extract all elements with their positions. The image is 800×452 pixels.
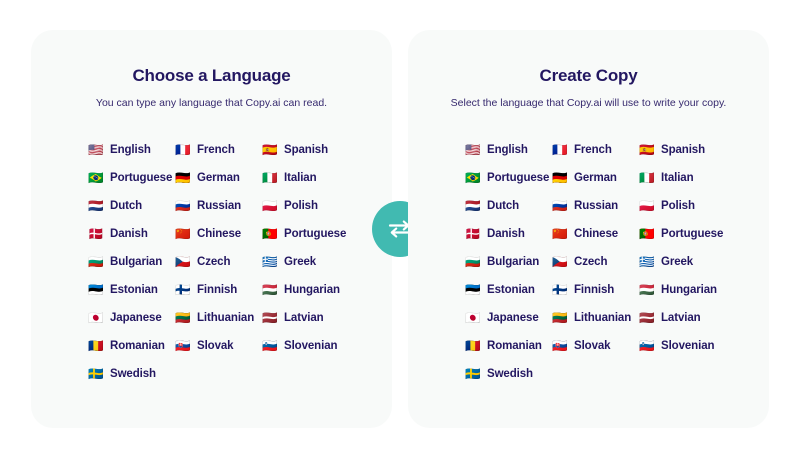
language-option-slovak-22[interactable]: 🇸🇰Slovak (552, 332, 639, 360)
language-option-label: Hungarian (284, 284, 340, 296)
language-option-swedish-24[interactable]: 🇸🇪Swedish (465, 360, 552, 388)
flag-brazil-icon: 🇧🇷 (465, 172, 481, 185)
language-option-polish-8[interactable]: 🇵🇱Polish (639, 192, 739, 220)
language-option-portuguese-11[interactable]: 🇵🇹Portuguese (639, 220, 739, 248)
language-option-label: Czech (574, 256, 607, 268)
flag-estonia-icon: 🇪🇪 (88, 284, 104, 297)
language-option-label: Lithuanian (197, 312, 254, 324)
language-option-label: Estonian (110, 284, 158, 296)
language-option-bulgarian-12[interactable]: 🇧🇬Bulgarian (465, 248, 552, 276)
language-option-label: Estonian (487, 284, 535, 296)
language-option-estonian-15[interactable]: 🇪🇪Estonian (465, 276, 552, 304)
flag-brazil-icon: 🇧🇷 (88, 172, 104, 185)
language-option-french-1[interactable]: 🇫🇷French (552, 136, 639, 164)
flag-latvia-icon: 🇱🇻 (262, 312, 278, 325)
language-option-portuguese-3[interactable]: 🇧🇷Portuguese (465, 164, 552, 192)
language-option-french-1[interactable]: 🇫🇷French (175, 136, 262, 164)
flag-slovenia-icon: 🇸🇮 (262, 340, 278, 353)
language-option-russian-7[interactable]: 🇷🇺Russian (552, 192, 639, 220)
flag-hungary-icon: 🇭🇺 (262, 284, 278, 297)
language-option-bulgarian-12[interactable]: 🇧🇬Bulgarian (88, 248, 175, 276)
language-option-italian-5[interactable]: 🇮🇹Italian (262, 164, 362, 192)
language-option-label: Italian (284, 172, 317, 184)
language-option-czech-13[interactable]: 🇨🇿Czech (175, 248, 262, 276)
language-option-danish-9[interactable]: 🇩🇰Danish (465, 220, 552, 248)
flag-netherlands-icon: 🇳🇱 (465, 200, 481, 213)
language-option-german-4[interactable]: 🇩🇪German (175, 164, 262, 192)
language-option-label: Lithuanian (574, 312, 631, 324)
flag-romania-icon: 🇷🇴 (465, 340, 481, 353)
language-option-greek-14[interactable]: 🇬🇷Greek (639, 248, 739, 276)
language-option-label: Italian (661, 172, 694, 184)
language-option-spanish-2[interactable]: 🇪🇸Spanish (639, 136, 739, 164)
flag-spain-icon: 🇪🇸 (262, 144, 278, 157)
language-option-label: Dutch (487, 200, 519, 212)
flag-greece-icon: 🇬🇷 (639, 256, 655, 269)
flag-portugal-icon: 🇵🇹 (639, 228, 655, 241)
language-option-label: Slovenian (284, 340, 337, 352)
language-option-label: Finnish (574, 284, 614, 296)
flag-japan-icon: 🇯🇵 (465, 312, 481, 325)
flag-japan-icon: 🇯🇵 (88, 312, 104, 325)
page-title: Choose a Language (31, 30, 392, 86)
flag-poland-icon: 🇵🇱 (262, 200, 278, 213)
language-option-label: Chinese (574, 228, 618, 240)
flag-germany-icon: 🇩🇪 (552, 172, 568, 185)
language-option-label: Bulgarian (110, 256, 162, 268)
language-option-lithuanian-19[interactable]: 🇱🇹Lithuanian (552, 304, 639, 332)
flag-russia-icon: 🇷🇺 (175, 200, 191, 213)
language-option-dutch-6[interactable]: 🇳🇱Dutch (465, 192, 552, 220)
flag-spain-icon: 🇪🇸 (639, 144, 655, 157)
language-option-label: English (487, 144, 528, 156)
language-option-polish-8[interactable]: 🇵🇱Polish (262, 192, 362, 220)
language-option-label: French (197, 144, 235, 156)
panel-subtitle: Select the language that Copy.ai will us… (408, 86, 769, 109)
language-option-label: Japanese (487, 312, 539, 324)
flag-lithuania-icon: 🇱🇹 (552, 312, 568, 325)
language-option-russian-7[interactable]: 🇷🇺Russian (175, 192, 262, 220)
language-option-chinese-10[interactable]: 🇨🇳Chinese (552, 220, 639, 248)
flag-slovakia-icon: 🇸🇰 (175, 340, 191, 353)
language-option-label: Swedish (487, 368, 533, 380)
language-option-czech-13[interactable]: 🇨🇿Czech (552, 248, 639, 276)
language-selector-screen: Choose a Language You can type any langu… (0, 0, 800, 452)
flag-czechia-icon: 🇨🇿 (552, 256, 568, 269)
flag-denmark-icon: 🇩🇰 (465, 228, 481, 241)
language-option-label: Bulgarian (487, 256, 539, 268)
language-option-label: Japanese (110, 312, 162, 324)
language-option-dutch-6[interactable]: 🇳🇱Dutch (88, 192, 175, 220)
flag-united-states-icon: 🇺🇸 (465, 144, 481, 157)
language-option-finnish-16[interactable]: 🇫🇮Finnish (552, 276, 639, 304)
flag-estonia-icon: 🇪🇪 (465, 284, 481, 297)
language-option-label: French (574, 144, 612, 156)
language-option-estonian-15[interactable]: 🇪🇪Estonian (88, 276, 175, 304)
language-option-chinese-10[interactable]: 🇨🇳Chinese (175, 220, 262, 248)
language-option-latvian-20[interactable]: 🇱🇻Latvian (262, 304, 362, 332)
language-option-label: Dutch (110, 200, 142, 212)
flag-china-icon: 🇨🇳 (175, 228, 191, 241)
language-option-romanian-21[interactable]: 🇷🇴Romanian (88, 332, 175, 360)
flag-italy-icon: 🇮🇹 (262, 172, 278, 185)
flag-france-icon: 🇫🇷 (552, 144, 568, 157)
flag-germany-icon: 🇩🇪 (175, 172, 191, 185)
language-option-slovenian-23[interactable]: 🇸🇮Slovenian (639, 332, 739, 360)
language-option-label: Portuguese (110, 172, 172, 184)
flag-greece-icon: 🇬🇷 (262, 256, 278, 269)
language-option-label: German (574, 172, 617, 184)
flag-lithuania-icon: 🇱🇹 (175, 312, 191, 325)
flag-france-icon: 🇫🇷 (175, 144, 191, 157)
flag-finland-icon: 🇫🇮 (175, 284, 191, 297)
language-option-greek-14[interactable]: 🇬🇷Greek (262, 248, 362, 276)
language-option-label: Polish (661, 200, 695, 212)
language-option-japanese-18[interactable]: 🇯🇵Japanese (465, 304, 552, 332)
flag-romania-icon: 🇷🇴 (88, 340, 104, 353)
language-option-label: Slovenian (661, 340, 714, 352)
flag-bulgaria-icon: 🇧🇬 (465, 256, 481, 269)
language-option-label: Russian (574, 200, 618, 212)
flag-portugal-icon: 🇵🇹 (262, 228, 278, 241)
language-option-label: Danish (110, 228, 148, 240)
flag-italy-icon: 🇮🇹 (639, 172, 655, 185)
flag-sweden-icon: 🇸🇪 (88, 368, 104, 381)
language-option-label: Finnish (197, 284, 237, 296)
page-title: Create Copy (408, 30, 769, 86)
language-option-label: English (110, 144, 151, 156)
language-option-label: Greek (661, 256, 693, 268)
language-option-label: Slovak (197, 340, 233, 352)
language-list-source: 🇺🇸English🇫🇷French🇪🇸Spanish🇧🇷Portuguese🇩🇪… (31, 109, 392, 388)
language-option-label: Romanian (487, 340, 542, 352)
language-option-latvian-20[interactable]: 🇱🇻Latvian (639, 304, 739, 332)
language-option-japanese-18[interactable]: 🇯🇵Japanese (88, 304, 175, 332)
language-option-finnish-16[interactable]: 🇫🇮Finnish (175, 276, 262, 304)
language-option-english-0[interactable]: 🇺🇸English (88, 136, 175, 164)
language-option-slovenian-23[interactable]: 🇸🇮Slovenian (262, 332, 362, 360)
language-option-label: Latvian (284, 312, 324, 324)
flag-finland-icon: 🇫🇮 (552, 284, 568, 297)
language-option-label: Polish (284, 200, 318, 212)
flag-hungary-icon: 🇭🇺 (639, 284, 655, 297)
language-option-italian-5[interactable]: 🇮🇹Italian (639, 164, 739, 192)
language-option-portuguese-11[interactable]: 🇵🇹Portuguese (262, 220, 362, 248)
language-option-label: Spanish (284, 144, 328, 156)
language-option-hungarian-17[interactable]: 🇭🇺Hungarian (262, 276, 362, 304)
language-option-label: Chinese (197, 228, 241, 240)
flag-united-states-icon: 🇺🇸 (88, 144, 104, 157)
language-option-swedish-24[interactable]: 🇸🇪Swedish (88, 360, 175, 388)
language-option-german-4[interactable]: 🇩🇪German (552, 164, 639, 192)
language-option-english-0[interactable]: 🇺🇸English (465, 136, 552, 164)
language-option-label: Danish (487, 228, 525, 240)
language-option-label: German (197, 172, 240, 184)
language-option-lithuanian-19[interactable]: 🇱🇹Lithuanian (175, 304, 262, 332)
panel-subtitle: You can type any language that Copy.ai c… (31, 86, 392, 109)
flag-sweden-icon: 🇸🇪 (465, 368, 481, 381)
flag-slovakia-icon: 🇸🇰 (552, 340, 568, 353)
flag-poland-icon: 🇵🇱 (639, 200, 655, 213)
flag-netherlands-icon: 🇳🇱 (88, 200, 104, 213)
choose-a-language-panel: Choose a Language You can type any langu… (31, 30, 392, 428)
language-option-label: Romanian (110, 340, 165, 352)
create-copy-panel: Create Copy Select the language that Cop… (408, 30, 769, 428)
language-option-label: Portuguese (661, 228, 723, 240)
flag-bulgaria-icon: 🇧🇬 (88, 256, 104, 269)
language-option-hungarian-17[interactable]: 🇭🇺Hungarian (639, 276, 739, 304)
flag-slovenia-icon: 🇸🇮 (639, 340, 655, 353)
language-option-label: Swedish (110, 368, 156, 380)
language-option-portuguese-3[interactable]: 🇧🇷Portuguese (88, 164, 175, 192)
language-option-danish-9[interactable]: 🇩🇰Danish (88, 220, 175, 248)
language-option-label: Portuguese (487, 172, 549, 184)
flag-latvia-icon: 🇱🇻 (639, 312, 655, 325)
language-option-slovak-22[interactable]: 🇸🇰Slovak (175, 332, 262, 360)
language-option-romanian-21[interactable]: 🇷🇴Romanian (465, 332, 552, 360)
language-option-label: Slovak (574, 340, 610, 352)
flag-czechia-icon: 🇨🇿 (175, 256, 191, 269)
flag-china-icon: 🇨🇳 (552, 228, 568, 241)
language-option-label: Latvian (661, 312, 701, 324)
flag-denmark-icon: 🇩🇰 (88, 228, 104, 241)
language-option-label: Czech (197, 256, 230, 268)
language-option-label: Portuguese (284, 228, 346, 240)
language-option-label: Spanish (661, 144, 705, 156)
language-option-spanish-2[interactable]: 🇪🇸Spanish (262, 136, 362, 164)
language-option-label: Russian (197, 200, 241, 212)
flag-russia-icon: 🇷🇺 (552, 200, 568, 213)
language-option-label: Hungarian (661, 284, 717, 296)
language-list-target: 🇺🇸English🇫🇷French🇪🇸Spanish🇧🇷Portuguese🇩🇪… (408, 109, 769, 388)
language-option-label: Greek (284, 256, 316, 268)
